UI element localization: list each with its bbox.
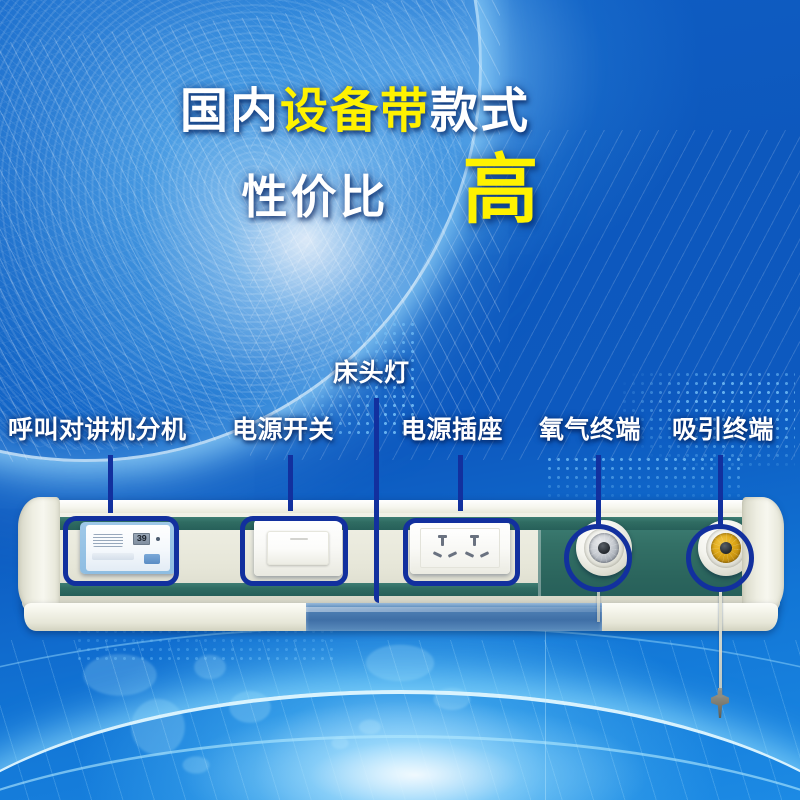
callout-label-nurse-call: 呼叫对讲机分机: [8, 418, 187, 443]
callout-label-power-socket: 电源插座: [401, 418, 503, 443]
leader-line-suction: [718, 455, 723, 525]
highlight-oxygen: [564, 524, 632, 592]
leader-line-oxygen: [596, 455, 601, 525]
highlight-suction: [686, 524, 754, 592]
poster-canvas: 国内设备带款式 性价比 高 呼叫对讲机分机 电源开关 床头灯 电源插座 氧气终端: [0, 0, 800, 800]
highlight-nurse-call: [63, 516, 179, 586]
leader-line-power-switch: [288, 455, 293, 511]
callout-label-suction: 吸引终端: [672, 418, 774, 443]
leader-line-bed-lamp: [374, 398, 379, 603]
highlight-power-switch: [240, 516, 348, 586]
leader-line-nurse-call: [108, 455, 113, 513]
callout-label-power-switch: 电源开关: [232, 418, 334, 443]
highlight-power-socket: [403, 518, 520, 586]
callout-label-oxygen: 氧气终端: [539, 418, 641, 443]
callout-layer: 呼叫对讲机分机 电源开关 床头灯 电源插座 氧气终端 吸引终端: [0, 0, 800, 800]
leader-line-power-socket: [458, 455, 463, 511]
callout-label-bed-lamp: 床头灯: [333, 361, 410, 386]
